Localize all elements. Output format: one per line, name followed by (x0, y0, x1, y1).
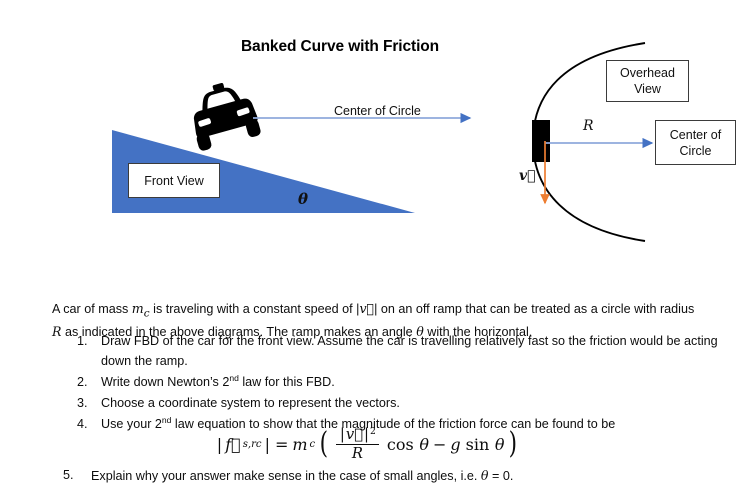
car-front-view (184, 76, 262, 152)
overhead-view-label-line1: Overhead (620, 65, 675, 81)
task-1-text: Draw FBD of the car for the front view. … (101, 334, 718, 368)
eq-paren-open: ( (320, 433, 328, 455)
theta-angle-label: θ (298, 190, 308, 208)
center-of-circle-arrow-label: Center of Circle (334, 104, 421, 118)
task-item-2: Write down Newton’s 2nd law for this FBD… (91, 372, 731, 393)
figure-area: Front View Overhead View Center of Circl… (0, 0, 736, 270)
overhead-view-callout: Overhead View (606, 60, 689, 102)
front-view-label: Front View (144, 173, 204, 189)
eq-num-velocity: v⃗ (346, 426, 363, 443)
eq-fraction: |v⃗|2 R (336, 427, 379, 461)
eq-friction-subscript: s,rc (243, 439, 262, 450)
eq-paren-close: ) (509, 433, 517, 455)
eq-minus: − (431, 435, 448, 454)
task-item-5: 5. Explain why your answer make sense in… (63, 466, 703, 487)
task-5-number: 5. (63, 466, 91, 487)
speed-symbol: v⃗ (359, 301, 374, 316)
eq-fraction-numerator: |v⃗|2 (336, 427, 379, 445)
radius-label: R (583, 118, 594, 134)
task-2-superscript: nd (229, 373, 239, 383)
task-list: Draw FBD of the car for the front view. … (63, 332, 731, 436)
task-5-angle-symbol: θ (481, 468, 489, 483)
task-5-content: Explain why your answer make sense in th… (91, 466, 513, 487)
eq-cos-function: cos (384, 435, 414, 454)
eq-friction-symbol: f⃗ (225, 435, 241, 454)
eq-mass-symbol: m (292, 435, 307, 454)
eq-lhs-bar-open: | (216, 435, 223, 454)
diagrams-svg (0, 0, 736, 270)
eq-gravity-symbol: g (450, 435, 460, 454)
task-4-superscript: nd (162, 415, 172, 425)
eq-num-bar-open: | (339, 426, 346, 443)
center-of-circle-callout: Center of Circle (655, 120, 736, 165)
car-overhead-view (532, 120, 550, 162)
task-5-text-after: = 0. (489, 469, 514, 483)
mass-symbol: m (132, 301, 144, 316)
task-item-1: Draw FBD of the car for the front view. … (91, 332, 731, 371)
center-of-circle-label-line1: Center of (670, 127, 721, 143)
eq-fraction-denominator: R (352, 445, 363, 461)
eq-sin-function: sin (463, 435, 490, 454)
task-item-3: Choose a coordinate system to represent … (91, 394, 731, 414)
eq-cos-argument: θ (419, 435, 429, 454)
eq-num-exponent: 2 (370, 426, 376, 437)
statement-part-2: is traveling with a constant speed of | (150, 302, 360, 316)
eq-num-bar-close: | (363, 426, 370, 443)
velocity-label: v⃗ (519, 168, 536, 184)
statement-part-1: A car of mass (52, 302, 132, 316)
eq-mass-subscript: c (310, 439, 316, 450)
center-of-circle-label-line2: Circle (680, 143, 712, 159)
eq-sin-argument: θ (495, 435, 505, 454)
front-view-callout: Front View (128, 163, 220, 198)
task-2-text-after: law for this FBD. (239, 375, 335, 389)
friction-equation: |f⃗s,rc| = mc ( |v⃗|2 R cos θ − g sin θ … (0, 427, 736, 461)
eq-equals: = (273, 435, 290, 454)
eq-lhs-bar-close: | (264, 435, 271, 454)
statement-part-3: | on an off ramp that can be treated as … (374, 302, 694, 316)
document-page: Banked Curve with Friction (0, 0, 736, 493)
task-3-text: Choose a coordinate system to represent … (101, 396, 400, 410)
task-5-text-before: Explain why your answer make sense in th… (91, 469, 481, 483)
overhead-view-label-line2: View (634, 81, 661, 97)
task-2-text-before: Write down Newton’s 2 (101, 375, 229, 389)
